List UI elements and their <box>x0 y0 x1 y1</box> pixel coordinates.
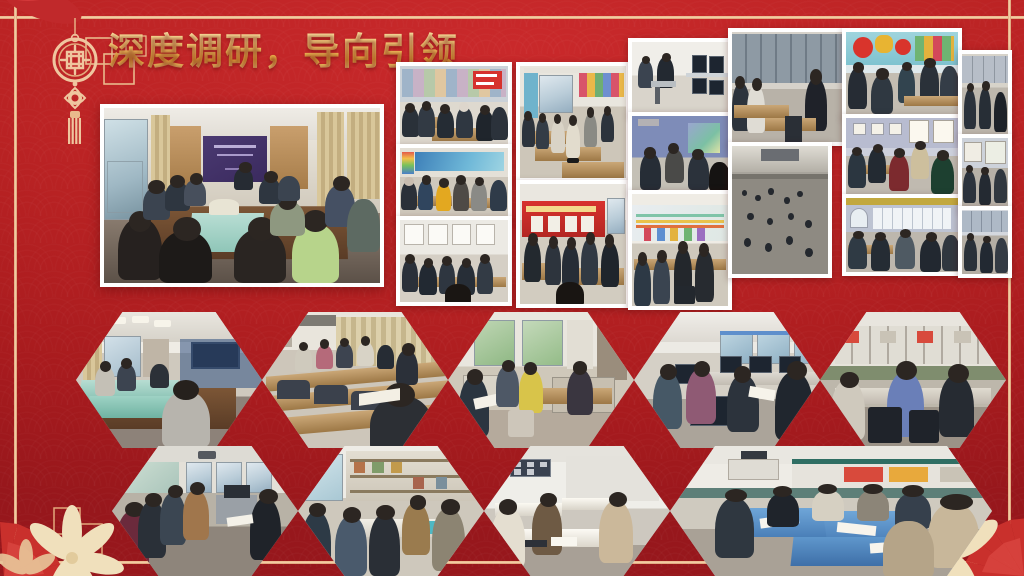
collage-photo-11 <box>516 180 630 308</box>
collage-photo-12 <box>628 190 732 310</box>
collage-photo-7 <box>842 28 962 118</box>
hex-photo-group-worktable <box>670 446 992 576</box>
collage-photo-5 <box>396 144 512 224</box>
collage-photo-4 <box>728 28 846 146</box>
frame-line-left <box>14 0 17 576</box>
collage-photo-3 <box>628 38 732 116</box>
classroom-observation-collage <box>392 14 1012 310</box>
collage-photo-2 <box>516 62 630 182</box>
hex-photo-row-2 <box>112 446 992 576</box>
collage-photo-13 <box>728 142 832 278</box>
hex-photo-small-group-room <box>820 312 1006 448</box>
collage-photo-6 <box>628 112 732 194</box>
hex-photo-computer-lab <box>634 312 820 448</box>
collage-photo-14 <box>842 194 962 276</box>
peony-flower-icon <box>0 0 104 82</box>
hex-photo-classroom-talk <box>484 446 670 576</box>
hex-photo-library-meeting <box>298 446 484 576</box>
collage-photo-16 <box>958 206 1012 278</box>
collage-photo-9 <box>396 216 512 306</box>
hex-photo-row-1 <box>76 312 1016 448</box>
hex-photo-conference-table <box>76 312 262 448</box>
collage-photo-8 <box>958 50 1012 138</box>
hex-photo-lecture-hall <box>262 312 448 448</box>
collage-photo-15 <box>958 134 1012 210</box>
hero-photo-conference-room <box>100 104 384 287</box>
collage-photo-1 <box>396 62 512 152</box>
hex-photo-teachers-office <box>448 312 634 448</box>
hex-photo-circle-discussion <box>112 446 298 576</box>
slide-root: 深度调研，导向引领 <box>0 0 1024 576</box>
collage-photo-10 <box>842 114 962 198</box>
